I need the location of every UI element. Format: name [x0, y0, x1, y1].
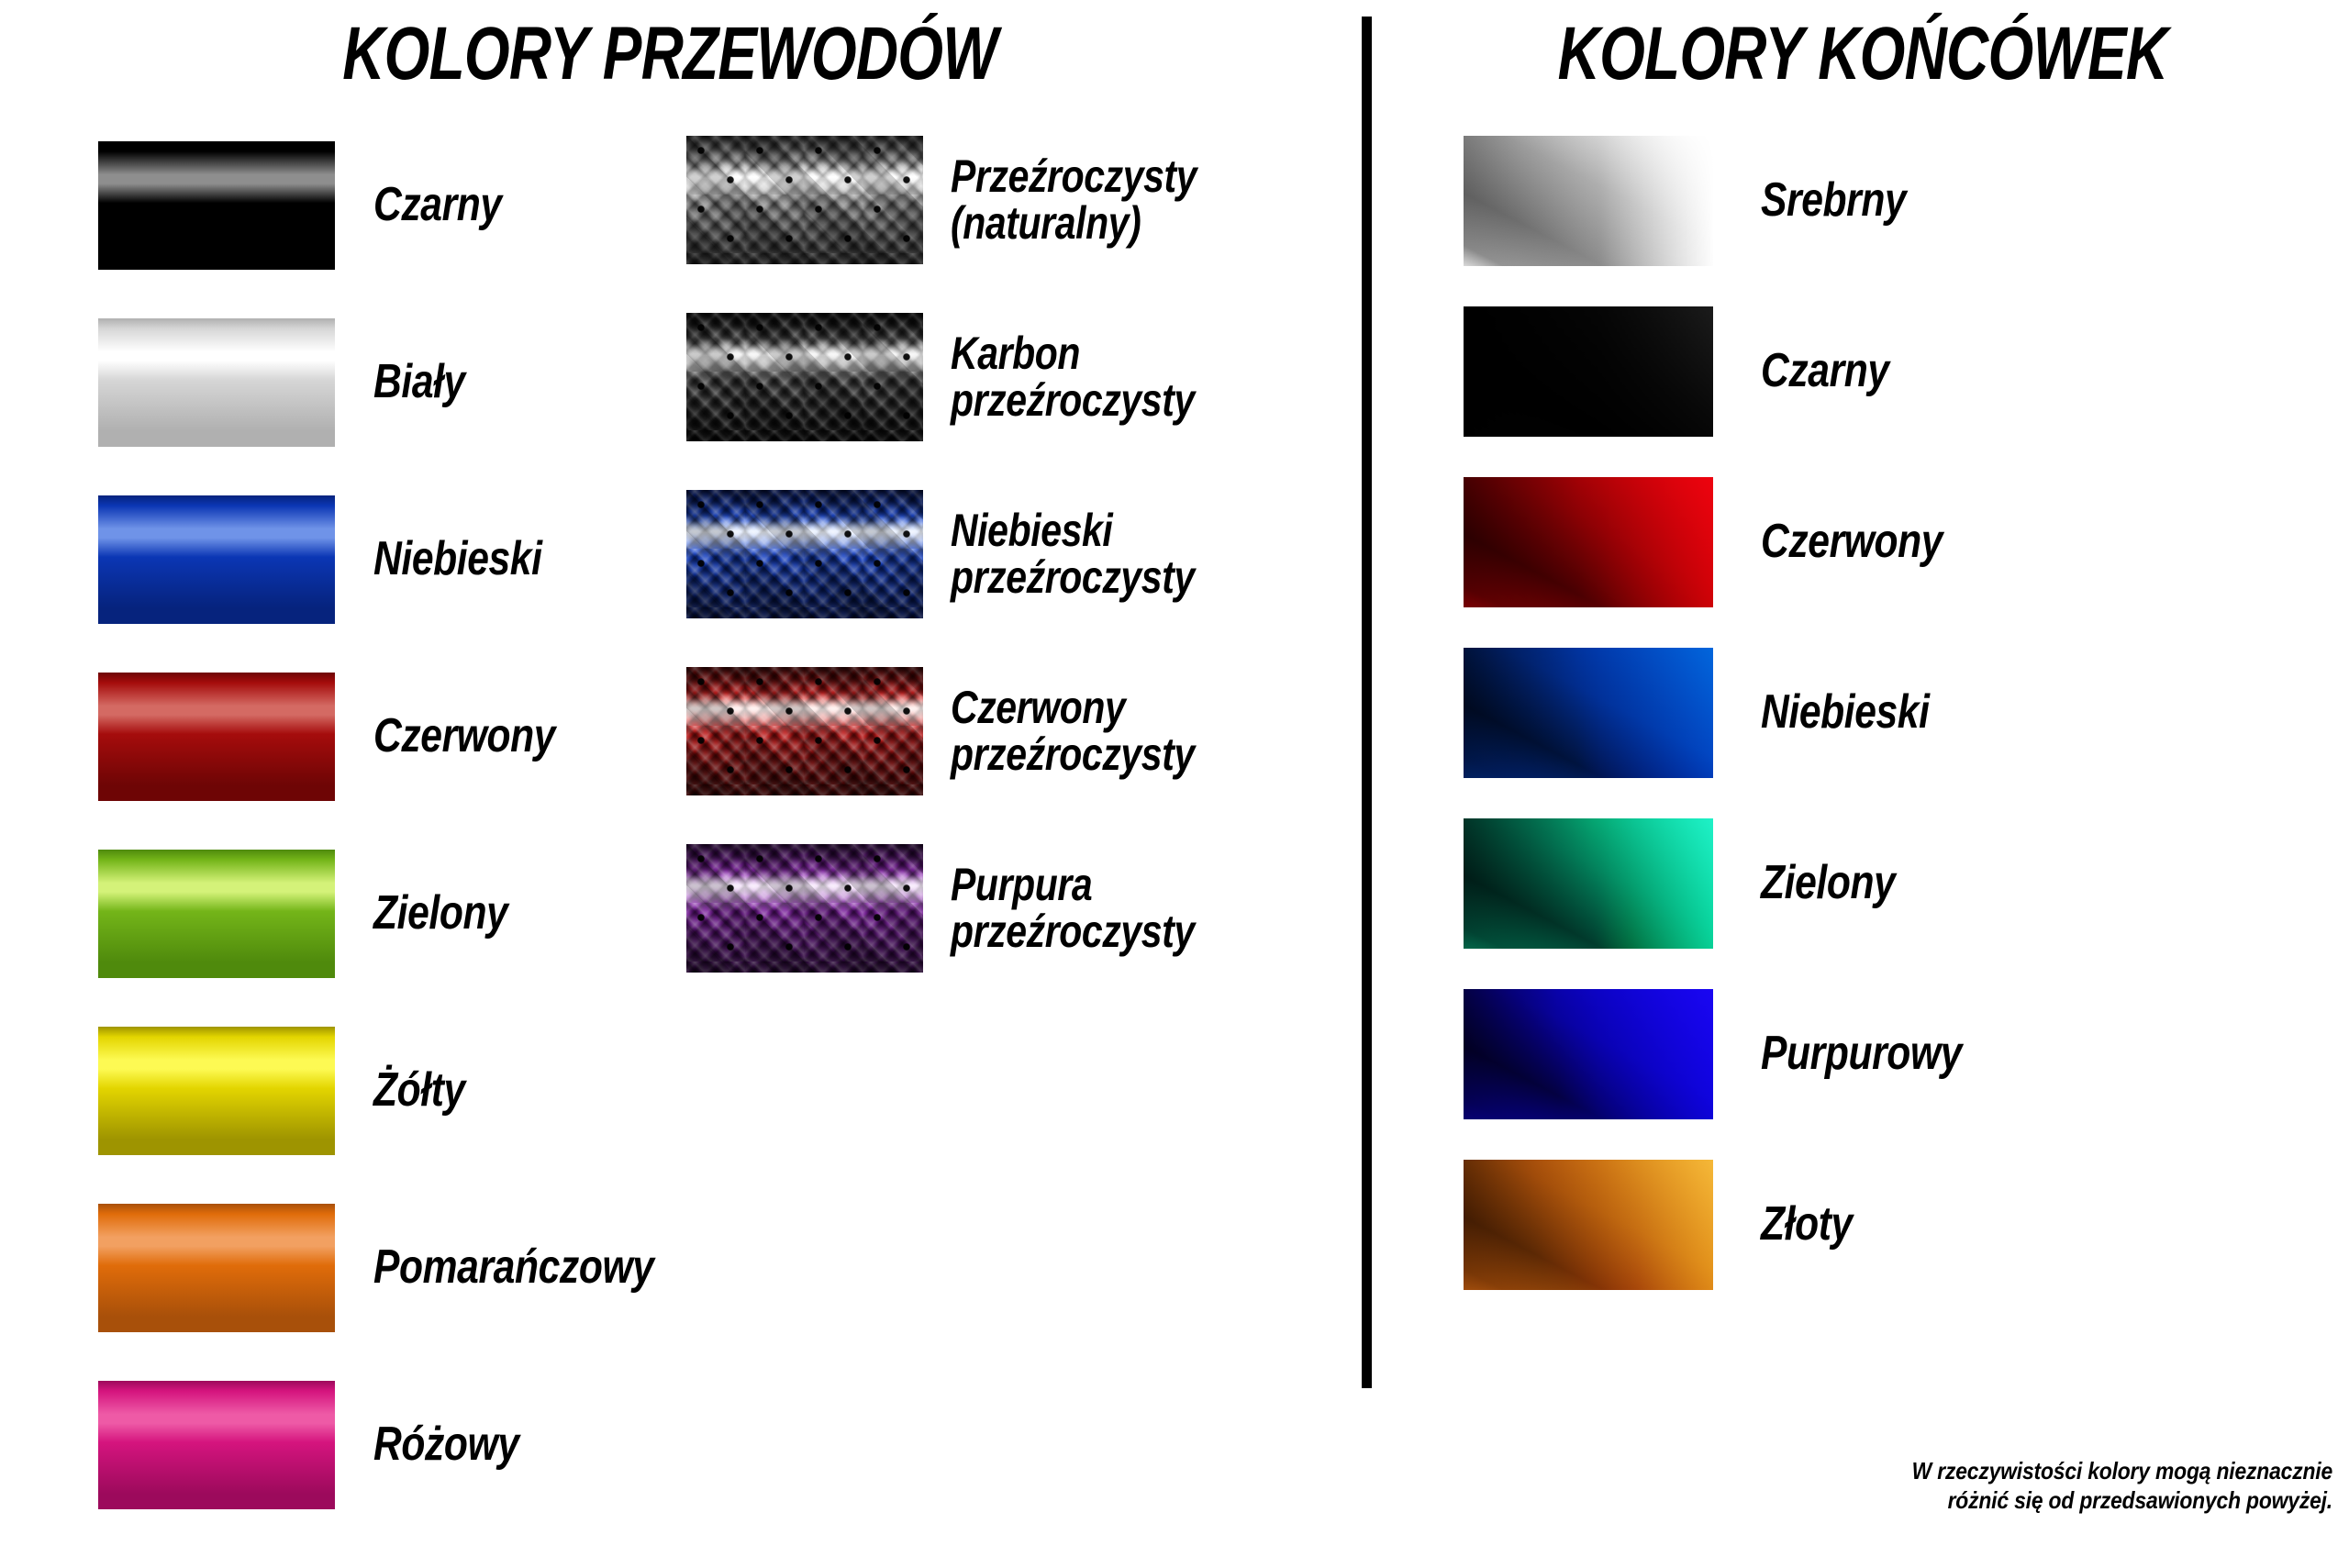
connector-color-swatch — [1464, 989, 1713, 1119]
braided-sleeve-swatch — [686, 667, 923, 795]
swatch-gloss-overlay — [686, 667, 923, 795]
disclaimer-footnote: W rzeczywistości kolory mogą nieznacznie… — [1799, 1457, 2332, 1515]
swatch-gloss-overlay — [686, 136, 923, 264]
connector-color-swatch — [1464, 306, 1713, 437]
color-name-label: Czerwony przeźroczysty — [951, 684, 1304, 778]
swatch-gloss-overlay — [686, 844, 923, 973]
connector-color-swatch — [1464, 136, 1713, 266]
color-name-label: Purpurowy — [1761, 1029, 2076, 1078]
wire-color-swatch — [98, 318, 335, 447]
color-row: Złoty — [1464, 1160, 2146, 1290]
color-row: Niebieski przeźroczysty — [686, 490, 1382, 618]
connector-color-swatch — [1464, 818, 1713, 949]
braided-sleeve-swatch — [686, 313, 923, 441]
color-row: Purpura przeźroczysty — [686, 844, 1382, 973]
braided-sleeve-swatch — [686, 136, 923, 264]
color-name-label: Przeźroczysty (naturalny) — [951, 153, 1304, 247]
wire-color-swatch — [98, 1027, 335, 1155]
color-row: Srebrny — [1464, 136, 2146, 266]
wire-color-swatch — [98, 673, 335, 801]
color-row: Niebieski — [1464, 648, 2146, 778]
color-row: Pomarańczowy — [98, 1204, 887, 1332]
color-name-label: Różowy — [373, 1420, 795, 1469]
page-title-connector-colors: KOLORY KOŃCÓWEK — [1484, 11, 2243, 97]
color-row: Karbon przeźroczysty — [686, 313, 1382, 441]
color-name-label: Czarny — [1761, 347, 2076, 395]
wire-color-swatch — [98, 141, 335, 270]
connector-color-swatch — [1464, 648, 1713, 778]
page-title-wire-colors: KOLORY PRZEWODÓW — [148, 11, 1193, 97]
color-row: Purpurowy — [1464, 989, 2146, 1119]
color-name-label: Niebieski — [1761, 688, 2076, 737]
color-name-label: Pomarańczowy — [373, 1243, 795, 1292]
color-row: Czerwony — [1464, 477, 2146, 607]
wire-color-swatch — [98, 1381, 335, 1509]
swatch-gloss-overlay — [686, 313, 923, 441]
color-name-label: Srebrny — [1761, 176, 2076, 225]
wire-color-swatch — [98, 495, 335, 624]
braided-sleeve-swatch — [686, 844, 923, 973]
connector-color-swatch — [1464, 477, 1713, 607]
color-name-label: Purpura przeźroczysty — [951, 862, 1304, 955]
braided-sleeve-swatch — [686, 490, 923, 618]
color-row: Zielony — [1464, 818, 2146, 949]
color-name-label: Karbon przeźroczysty — [951, 330, 1304, 424]
connector-color-swatch — [1464, 1160, 1713, 1290]
wire-color-swatch — [98, 850, 335, 978]
color-name-label: Zielony — [1761, 859, 2076, 907]
color-name-label: Złoty — [1761, 1200, 2076, 1249]
color-name-label: Niebieski przeźroczysty — [951, 507, 1304, 601]
color-row: Żółty — [98, 1027, 887, 1155]
color-row: Czerwony przeźroczysty — [686, 667, 1382, 795]
wire-color-swatch — [98, 1204, 335, 1332]
color-row: Przeźroczysty (naturalny) — [686, 136, 1382, 264]
color-name-label: Żółty — [373, 1066, 795, 1115]
color-name-label: Czerwony — [1761, 517, 2076, 566]
color-row: Różowy — [98, 1381, 887, 1509]
color-row: Czarny — [1464, 306, 2146, 437]
swatch-gloss-overlay — [686, 490, 923, 618]
